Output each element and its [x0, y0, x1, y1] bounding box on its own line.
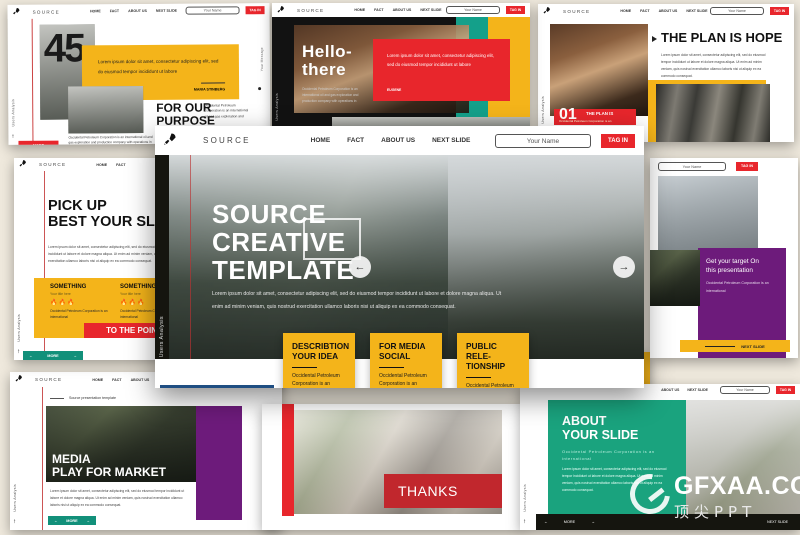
subtitle-text: Occidental Petroleum Corporation is an i… — [302, 87, 374, 104]
sidebar-label: Users Analysis — [159, 316, 165, 357]
nav-item-about-us[interactable]: ABOUT US — [131, 378, 150, 382]
slide-lede: Lorem ipsum dolor sit amet, consectetur … — [212, 288, 502, 313]
navbar: SOURCE HOME FACT ABOUT US NEXT SLIDE You… — [8, 3, 270, 19]
feature-card[interactable]: FOR MEDIA SOCIAL Occidental Petroleum Co… — [370, 333, 442, 388]
pagination-dot[interactable] — [258, 87, 261, 90]
sidebar: Users Analysis ↑ — [272, 3, 281, 139]
nav-item-about-us[interactable]: ABOUT US — [128, 9, 147, 13]
slide-heading: ABOUTYOUR SLIDE — [562, 414, 638, 443]
more-label: MORE — [33, 143, 44, 145]
next-slide-button[interactable]: NEXT SLIDE — [680, 340, 790, 352]
name-input[interactable]: Your Name — [720, 386, 770, 394]
nav-item-fact[interactable]: FACT — [374, 8, 383, 12]
red-callout-card: Lorem ipsum dolor sit amet, consectetur … — [373, 39, 510, 101]
sidebar-label: Users Analysis — [17, 314, 21, 342]
triangle-marker-icon — [652, 36, 657, 42]
nav-item-next-slide[interactable]: NEXT SLIDE — [686, 9, 707, 13]
feature-card[interactable]: PUBLIC RELE-TIONSHIP Occidental Petroleu… — [457, 333, 529, 388]
navbar: Your Name TAG IN — [650, 158, 798, 174]
tag-in-button[interactable]: TAG IN — [776, 386, 795, 394]
dark-photo-block — [650, 250, 700, 306]
brand-label: SOURCE — [33, 9, 60, 14]
sidebar-label: Users Analysis — [275, 93, 279, 121]
nav-item-about-us[interactable]: ABOUT US — [393, 8, 412, 12]
slide-hello-there[interactable]: SOURCE HOME FACT ABOUT US NEXT SLIDE You… — [272, 3, 530, 139]
card-title: PUBLIC RELE-TIONSHIP — [466, 342, 521, 372]
more-bar[interactable]: ← MORE → — [23, 351, 83, 360]
carousel-prev-button[interactable]: ← — [349, 256, 371, 278]
sidebar: Users Analysis ↑ — [10, 372, 19, 530]
slide-thanks[interactable]: THANKS — [262, 404, 524, 530]
arrow-left-icon[interactable]: ← — [29, 354, 33, 358]
feature-column: SOMETHING Your title here 🔥🔥🔥 Occidental… — [50, 284, 118, 320]
arrow-up-icon[interactable]: ↑ — [523, 519, 526, 525]
side-body-text: Occidental Petroleum Corporation is an i… — [204, 103, 250, 119]
heading-line-1: ABOUT — [562, 414, 606, 428]
nav-links: HOME FACT — [96, 163, 125, 167]
slide-heading: Get your target Onthis presentation — [706, 258, 784, 275]
quote-author: MARIA STINBERG — [194, 87, 225, 91]
decorative-frame — [303, 218, 361, 260]
name-input[interactable]: Your Name — [710, 7, 764, 15]
name-input[interactable]: Your Name — [186, 6, 240, 14]
thanks-title: THANKS — [398, 483, 458, 499]
sidebar: Users Analysis ↑ — [155, 155, 169, 388]
rocket-icon — [276, 5, 285, 16]
accent-line — [42, 387, 43, 530]
more-label[interactable]: MORE — [564, 520, 575, 524]
slide-body: Lorem ipsum dolor sit amet, consectetur … — [661, 52, 773, 80]
arrow-up-icon[interactable]: ↑ — [11, 134, 14, 140]
purple-panel — [196, 406, 242, 520]
numbered-badge: 01 THE PLAN IS Occidental Petroleum Corp… — [554, 109, 636, 125]
title-line-2: there — [302, 60, 346, 79]
flame-rating-icon: 🔥🔥🔥 — [50, 299, 118, 306]
slide-body: Lorem ipsum dolor sit amet, consectetur … — [50, 488, 190, 509]
slide-body: Occidental Petroleum Corporation is an i… — [706, 280, 778, 296]
photo-caption: Occidental Petroleum Corporation is an i… — [68, 135, 153, 145]
feature-body: Occidental Petroleum Corporation is an i… — [50, 309, 118, 320]
more-bar[interactable]: ← MORE → — [160, 385, 274, 388]
slide-heading: MEDIAPLAY FOR MARKET — [52, 453, 166, 479]
heading-line-2: YOUR SLIDE — [562, 428, 638, 442]
slide-get-your-target[interactable]: Your Name TAG IN Get your target Onthis … — [650, 158, 798, 358]
callout-author: EUGENE — [387, 88, 401, 92]
watermark-tagline: 顶尖PPT — [674, 501, 800, 522]
nav-item-home[interactable]: HOME — [92, 378, 103, 382]
watermark-site: GFXAA.COM — [674, 474, 800, 499]
sidebar-label: Users Analysis — [13, 484, 17, 512]
slide-subtitle: Occidental Petroleum Corporation is an i… — [562, 448, 672, 462]
watermark: GFXAA.COM 顶尖PPT — [630, 474, 800, 522]
accent-line — [190, 155, 191, 388]
slide-45-for-our-purpose[interactable]: SOURCE HOME FACT ABOUT US NEXT SLIDE You… — [8, 3, 271, 145]
feature-title: SOMETHING — [50, 284, 118, 290]
red-accent-bar — [282, 404, 294, 516]
notebook-photo — [550, 24, 648, 116]
nav-item-home[interactable]: HOME — [96, 163, 107, 167]
brand-label: SOURCE — [203, 136, 251, 145]
nav-item-next-slide[interactable]: NEXT SLIDE — [156, 9, 177, 13]
card-body: Occidental Petroleum Corporation is an i… — [292, 373, 347, 388]
nav-item-fact[interactable]: FACT — [640, 9, 649, 13]
sidebar: Users Analysis ↑ — [520, 384, 529, 530]
sidebar-label: Users Analysis — [11, 99, 15, 127]
nav-item-fact[interactable]: FACT — [110, 9, 119, 13]
navbar: SOURCE HOME FACT ABOUT US NEXT SLIDE You… — [155, 126, 644, 155]
title-line-1: Hello- — [302, 42, 352, 61]
nav-links: HOME FACT ABOUT US NEXT SLIDE — [354, 8, 441, 12]
arrow-right-icon[interactable]: → — [86, 519, 90, 523]
heading-line-1: Get your target On — [706, 258, 759, 265]
feature-card[interactable]: DESCRIBTION YOUR IDEA Occidental Petrole… — [283, 333, 355, 388]
divider — [379, 367, 404, 369]
nav-links: HOME FACT ABOUT US NEXT SLIDE — [620, 9, 707, 13]
thanks-banner: THANKS — [384, 474, 502, 508]
brand-label: SOURCE — [35, 377, 62, 382]
nav-item-home[interactable]: HOME — [311, 137, 331, 144]
arrow-left-icon[interactable]: ← — [24, 143, 28, 145]
nav-item-home[interactable]: HOME — [90, 9, 101, 13]
next-slide-label: NEXT SLIDE — [741, 344, 765, 349]
nav-item-fact[interactable]: FACT — [116, 163, 125, 167]
arrow-right-icon[interactable]: → — [49, 143, 53, 145]
nav-links: HOME FACT ABOUT US NEXT SLIDE — [311, 137, 471, 144]
card-body: Occidental Petroleum Corporation is an i… — [379, 373, 434, 388]
nav-item-fact[interactable]: FACT — [112, 378, 121, 382]
divider — [292, 367, 317, 369]
slide-source-creative-template[interactable]: SOURCE HOME FACT ABOUT US NEXT SLIDE You… — [155, 126, 644, 388]
slide-heading: THE PLAN IS HOPE — [661, 30, 782, 45]
divider — [466, 377, 491, 379]
rocket-icon — [14, 374, 23, 385]
feature-subtitle: Your title here — [50, 292, 118, 296]
rocket-icon — [18, 159, 27, 170]
feature-card-row: DESCRIBTION YOUR IDEA Occidental Petrole… — [283, 333, 529, 388]
heading-line-2: PLAY FOR MARKET — [52, 465, 166, 479]
arrow-left-icon[interactable]: ← — [544, 520, 548, 524]
nav-item-home[interactable]: HOME — [354, 8, 365, 12]
right-vertical-label: Your Message — [260, 47, 264, 71]
nav-item-about-us[interactable]: ABOUT US — [659, 9, 678, 13]
name-input[interactable]: Your Name — [658, 162, 726, 171]
nav-item-fact[interactable]: FACT — [347, 137, 364, 144]
hall-photo — [656, 84, 770, 142]
heading-line-2: this presentation — [706, 267, 753, 274]
divider — [705, 346, 735, 347]
nav-item-next-slide[interactable]: NEXT SLIDE — [420, 8, 441, 12]
sidebar: Users Analysis ↑ — [14, 158, 23, 360]
gfxaa-logo-icon — [622, 466, 678, 522]
tag-in-button[interactable]: TAG IN — [770, 7, 789, 15]
watermark-text: GFXAA.COM 顶尖PPT — [674, 474, 800, 522]
callout-body: Lorem ipsum dolor sit amet, consectetur … — [387, 51, 496, 70]
secondary-photo — [68, 86, 143, 134]
sidebar: Users Analysis ↑ — [538, 4, 547, 142]
brand-label: SOURCE — [297, 8, 324, 13]
slide-title: Hello-there — [302, 43, 352, 79]
carousel-next-button[interactable]: → — [613, 256, 635, 278]
accent-line — [32, 19, 34, 145]
nav-links: HOME FACT ABOUT US NEXT SLIDE — [90, 9, 177, 14]
more-bar[interactable]: ← MORE → — [48, 516, 96, 525]
template-label: Source presentation template — [50, 396, 116, 400]
heading-line-1: MEDIA — [52, 452, 91, 466]
tag-in-button[interactable]: TAG IN — [736, 162, 758, 171]
nav-links: ABOUT US NEXT SLIDE — [661, 388, 708, 392]
navbar: SOURCE HOME FACT ABOUT US NEXT SLIDE You… — [272, 3, 530, 17]
card-body: Occidental Petroleum Corporation is an i… — [466, 383, 521, 388]
more-label: MORE — [47, 354, 58, 358]
more-label: MORE — [66, 519, 77, 523]
slide-body-area: Users Analysis ↑ SOURCE CREATIVE TEMPLAT… — [155, 155, 644, 388]
nav-item-next-slide[interactable]: NEXT SLIDE — [687, 388, 708, 392]
slide-the-plan-is-hope[interactable]: SOURCE HOME FACT ABOUT US NEXT SLIDE You… — [538, 4, 794, 142]
tag-in-button[interactable]: TAG IN — [601, 134, 635, 148]
rocket-icon — [163, 132, 177, 149]
sidebar-label: Users Analysis — [541, 96, 545, 124]
tag-in-button[interactable]: TAG IN — [506, 6, 525, 14]
rocket-icon — [542, 6, 551, 17]
quote-text: Lorem ipsum dolor sit amet, consectetur … — [98, 56, 223, 76]
arrow-up-icon[interactable]: ↑ — [13, 519, 16, 525]
sidebar-label: Users Analysis — [523, 484, 527, 512]
presentation-mockup-collage: SOURCE HOME FACT ABOUT US NEXT SLIDE You… — [0, 0, 800, 535]
big-number: 45 — [44, 26, 85, 71]
nav-item-home[interactable]: HOME — [620, 9, 631, 13]
more-bar[interactable]: ← MORE → — [18, 141, 58, 145]
card-title: DESCRIBTION YOUR IDEA — [292, 342, 347, 362]
card-title: FOR MEDIA SOCIAL — [379, 342, 434, 362]
badge-title: THE PLAN IS — [586, 111, 613, 116]
arrow-right-icon[interactable]: → — [591, 520, 595, 524]
nav-item-about-us[interactable]: ABOUT US — [661, 388, 679, 392]
navbar: SOURCE HOME FACT ABOUT US NEXT SLIDE You… — [538, 4, 794, 18]
sidebar: Users Analysis ↑ — [8, 5, 18, 145]
divider — [50, 398, 64, 399]
slide-media-play-for-market[interactable]: SOURCE HOME FACT ABOUT US NEXT SLIDE Use… — [10, 372, 282, 530]
nav-item-next-slide[interactable]: NEXT SLIDE — [432, 137, 470, 144]
portrait-photo — [658, 176, 758, 256]
name-input[interactable]: Your Name — [446, 6, 500, 14]
brand-label: SOURCE — [39, 162, 66, 167]
brand-label: SOURCE — [563, 9, 590, 14]
divider — [201, 82, 225, 83]
nav-item-about-us[interactable]: ABOUT US — [381, 137, 415, 144]
arrow-up-icon[interactable]: ↑ — [17, 349, 20, 355]
rocket-icon — [12, 6, 21, 17]
badge-subtitle: Occidental Petroleum Corporation is an — [559, 119, 611, 123]
name-input[interactable]: Your Name — [495, 134, 591, 148]
template-label-text: Source presentation template — [69, 396, 116, 400]
arrow-right-icon[interactable]: → — [73, 354, 77, 358]
tag-in-button[interactable]: TAG IN — [246, 6, 265, 14]
arrow-left-icon[interactable]: ← — [54, 519, 58, 523]
heading-line-1: PICK UP — [48, 198, 107, 214]
